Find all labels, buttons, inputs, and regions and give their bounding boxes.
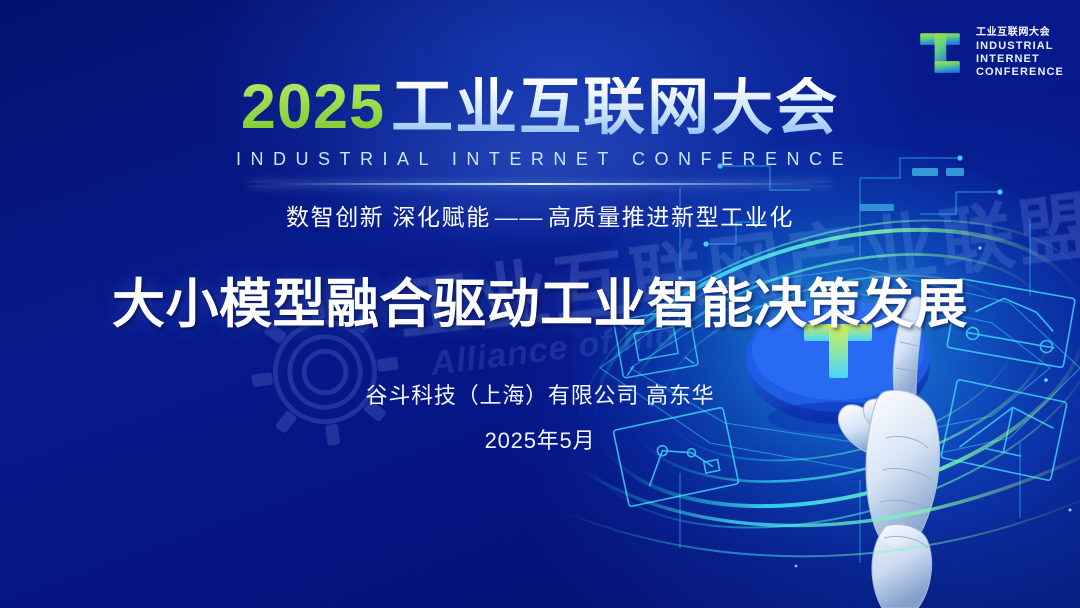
presenter-block: 谷斗科技（上海）有限公司 高东华 2025年5月	[0, 378, 1080, 455]
presentation-slide: 工业互联网产业联盟 Alliance of Ind	[0, 0, 1080, 608]
conference-t-mark-icon	[913, 26, 967, 80]
logo-english-line-2: INTERNET	[976, 53, 1064, 66]
presentation-date: 2025年5月	[0, 423, 1080, 455]
logo-english-line-1: INDUSTRIAL	[976, 40, 1064, 53]
presenter-organization: 谷斗科技（上海）有限公司 高东华	[0, 378, 1080, 410]
slogan-dash: ——	[491, 204, 548, 230]
event-slogan: 数智创新 深化赋能——高质量推进新型工业化	[0, 198, 1080, 232]
slogan-right-part: 高质量推进新型工业化	[548, 204, 794, 230]
conference-logo: 工业互联网大会 INDUSTRIAL INTERNET CONFERENCE	[913, 26, 1064, 80]
event-name-chinese: 工业互联网大会	[391, 77, 839, 139]
event-year: 2025	[241, 76, 385, 139]
logo-chinese-name: 工业互联网大会	[976, 27, 1064, 39]
event-name-english: INDUSTRIAL INTERNET CONFERENCE	[0, 149, 1080, 170]
header-divider	[250, 183, 830, 185]
conference-logo-text: 工业互联网大会 INDUSTRIAL INTERNET CONFERENCE	[976, 27, 1064, 80]
event-header: 2025 工业互联网大会 INDUSTRIAL INTERNET CONFERE…	[0, 76, 1080, 232]
slogan-left-part: 数智创新 深化赋能	[286, 204, 491, 230]
presentation-title: 大小模型融合驱动工业智能决策发展	[0, 262, 1080, 338]
event-title-line: 2025 工业互联网大会	[0, 76, 1080, 139]
